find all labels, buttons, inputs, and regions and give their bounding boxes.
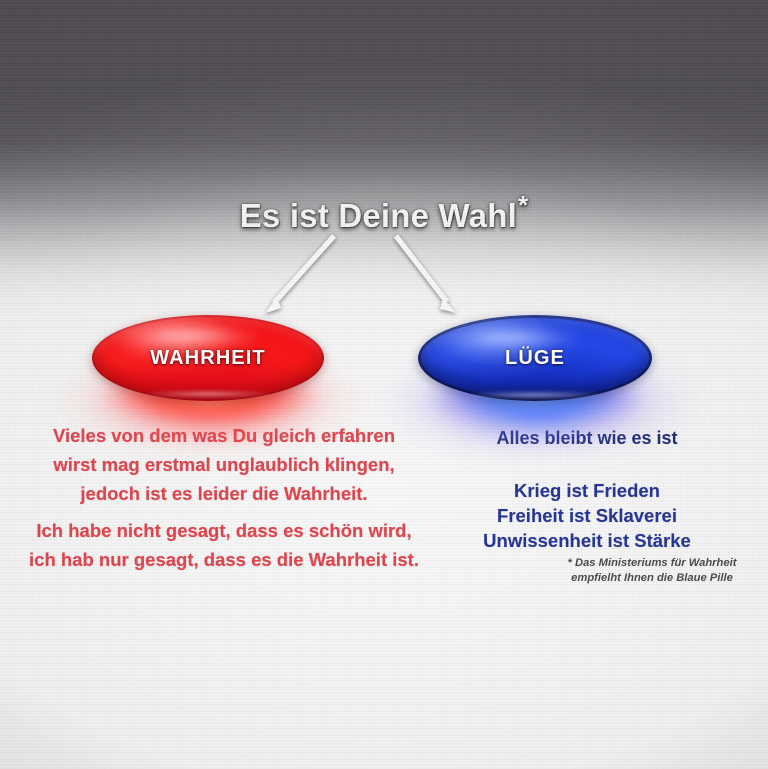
footnote-marker: * bbox=[518, 190, 528, 220]
blue-paragraph-one: Alles bleibt wie es ist bbox=[432, 425, 742, 451]
red-paragraph-one-line: Vieles von dem was Du gleich erfahren bbox=[14, 421, 434, 450]
blue-pill[interactable]: LÜGE bbox=[418, 315, 652, 401]
blue-paragraph-one-line: Alles bleibt wie es ist bbox=[432, 425, 742, 451]
red-paragraph-one-line: wirst mag erstmal unglaublich klingen, bbox=[14, 450, 434, 479]
footnote-line: empfielht Ihnen die Blaue Pille bbox=[540, 571, 764, 586]
page-title: Es ist Deine Wahl* bbox=[0, 190, 768, 235]
red-pill[interactable]: WAHRHEIT bbox=[92, 315, 324, 401]
red-paragraph-one-line: jedoch ist es leider die Wahrheit. bbox=[14, 479, 434, 508]
footnote-line: * Das Ministeriums für Wahrheit bbox=[540, 556, 764, 571]
red-pill-body[interactable]: WAHRHEIT bbox=[92, 315, 324, 401]
red-paragraph-two: Ich habe nicht gesagt, dass es schön wir… bbox=[8, 516, 440, 574]
blue-pill-label: LÜGE bbox=[505, 347, 565, 370]
footnote: * Das Ministeriums für Wahrheit empfielh… bbox=[540, 556, 764, 586]
blue-slogan-list: Krieg ist Frieden Freiheit ist Sklaverei… bbox=[432, 478, 742, 553]
blue-slogan: Freiheit ist Sklaverei bbox=[432, 503, 742, 528]
blue-pill-body[interactable]: LÜGE bbox=[418, 315, 652, 401]
blue-slogan: Unwissenheit ist Stärke bbox=[432, 528, 742, 553]
blue-slogan: Krieg ist Frieden bbox=[432, 478, 742, 503]
red-paragraph-one: Vieles von dem was Du gleich erfahren wi… bbox=[14, 421, 434, 508]
red-pill-label: WAHRHEIT bbox=[150, 347, 265, 370]
page-title-text: Es ist Deine Wahl bbox=[240, 197, 517, 234]
red-paragraph-two-line: Ich habe nicht gesagt, dass es schön wir… bbox=[8, 516, 440, 545]
red-paragraph-two-line: ich hab nur gesagt, dass es die Wahrheit… bbox=[8, 545, 440, 574]
poster-canvas: Es ist Deine Wahl* WAHRHEIT L bbox=[0, 0, 768, 769]
